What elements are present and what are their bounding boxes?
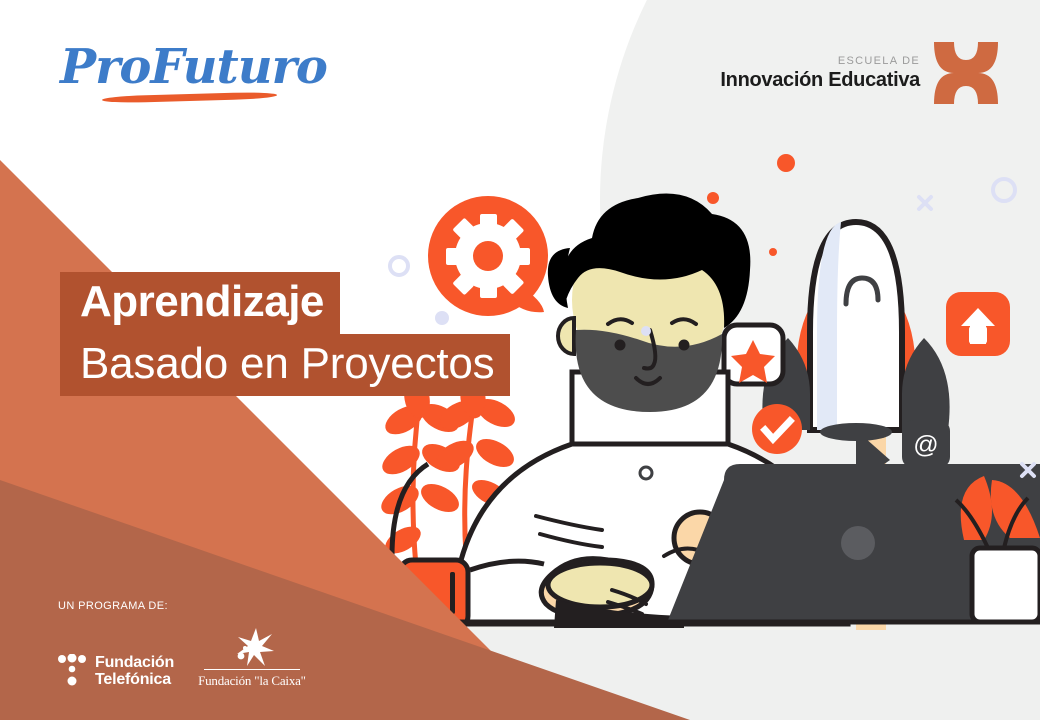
star-icon <box>724 325 783 384</box>
title-line-2: Basado en Proyectos <box>60 334 510 396</box>
credits-logos: Fundación Telefónica Fundación "la Caixa… <box>58 626 306 688</box>
check-icon <box>752 404 802 454</box>
title-line-1: Aprendizaje <box>60 272 340 334</box>
profuturo-wordmark: ProFuturo <box>60 38 330 96</box>
escuela-logo-text: ESCUELA DE Innovación Educativa <box>720 54 920 92</box>
credits-block: UN PROGRAMA DE: Fundación Telefónica <box>58 600 306 688</box>
at-icon: @ <box>902 420 950 468</box>
escuela-logo-eyebrow: ESCUELA DE <box>720 54 920 68</box>
ft-line-2: Telefónica <box>95 671 174 688</box>
escuela-logo-title: Innovación Educativa <box>720 68 920 92</box>
caixa-star-icon <box>229 626 275 668</box>
page-title: Aprendizaje Basado en Proyectos <box>60 272 510 396</box>
x-mark-icon <box>932 42 1000 104</box>
caixa-rule <box>204 669 300 670</box>
fundacion-telefonica-name: Fundación Telefónica <box>95 654 174 688</box>
telefonica-dots-icon <box>58 654 86 688</box>
caixa-caption: Fundación "la Caixa" <box>198 673 306 688</box>
credits-label: UN PROGRAMA DE: <box>58 600 306 612</box>
fundacion-telefonica-logo: Fundación Telefónica <box>58 654 174 688</box>
svg-text:@: @ <box>913 431 938 459</box>
ft-line-1: Fundación <box>95 654 174 671</box>
slide-canvas: @ <box>0 0 1040 720</box>
profuturo-logo: ProFuturo <box>60 38 330 108</box>
fundacion-la-caixa-logo: Fundación "la Caixa" <box>198 626 306 688</box>
arrow-up-icon <box>946 292 1010 356</box>
escuela-innovacion-logo: ESCUELA DE Innovación Educativa <box>720 42 1000 104</box>
